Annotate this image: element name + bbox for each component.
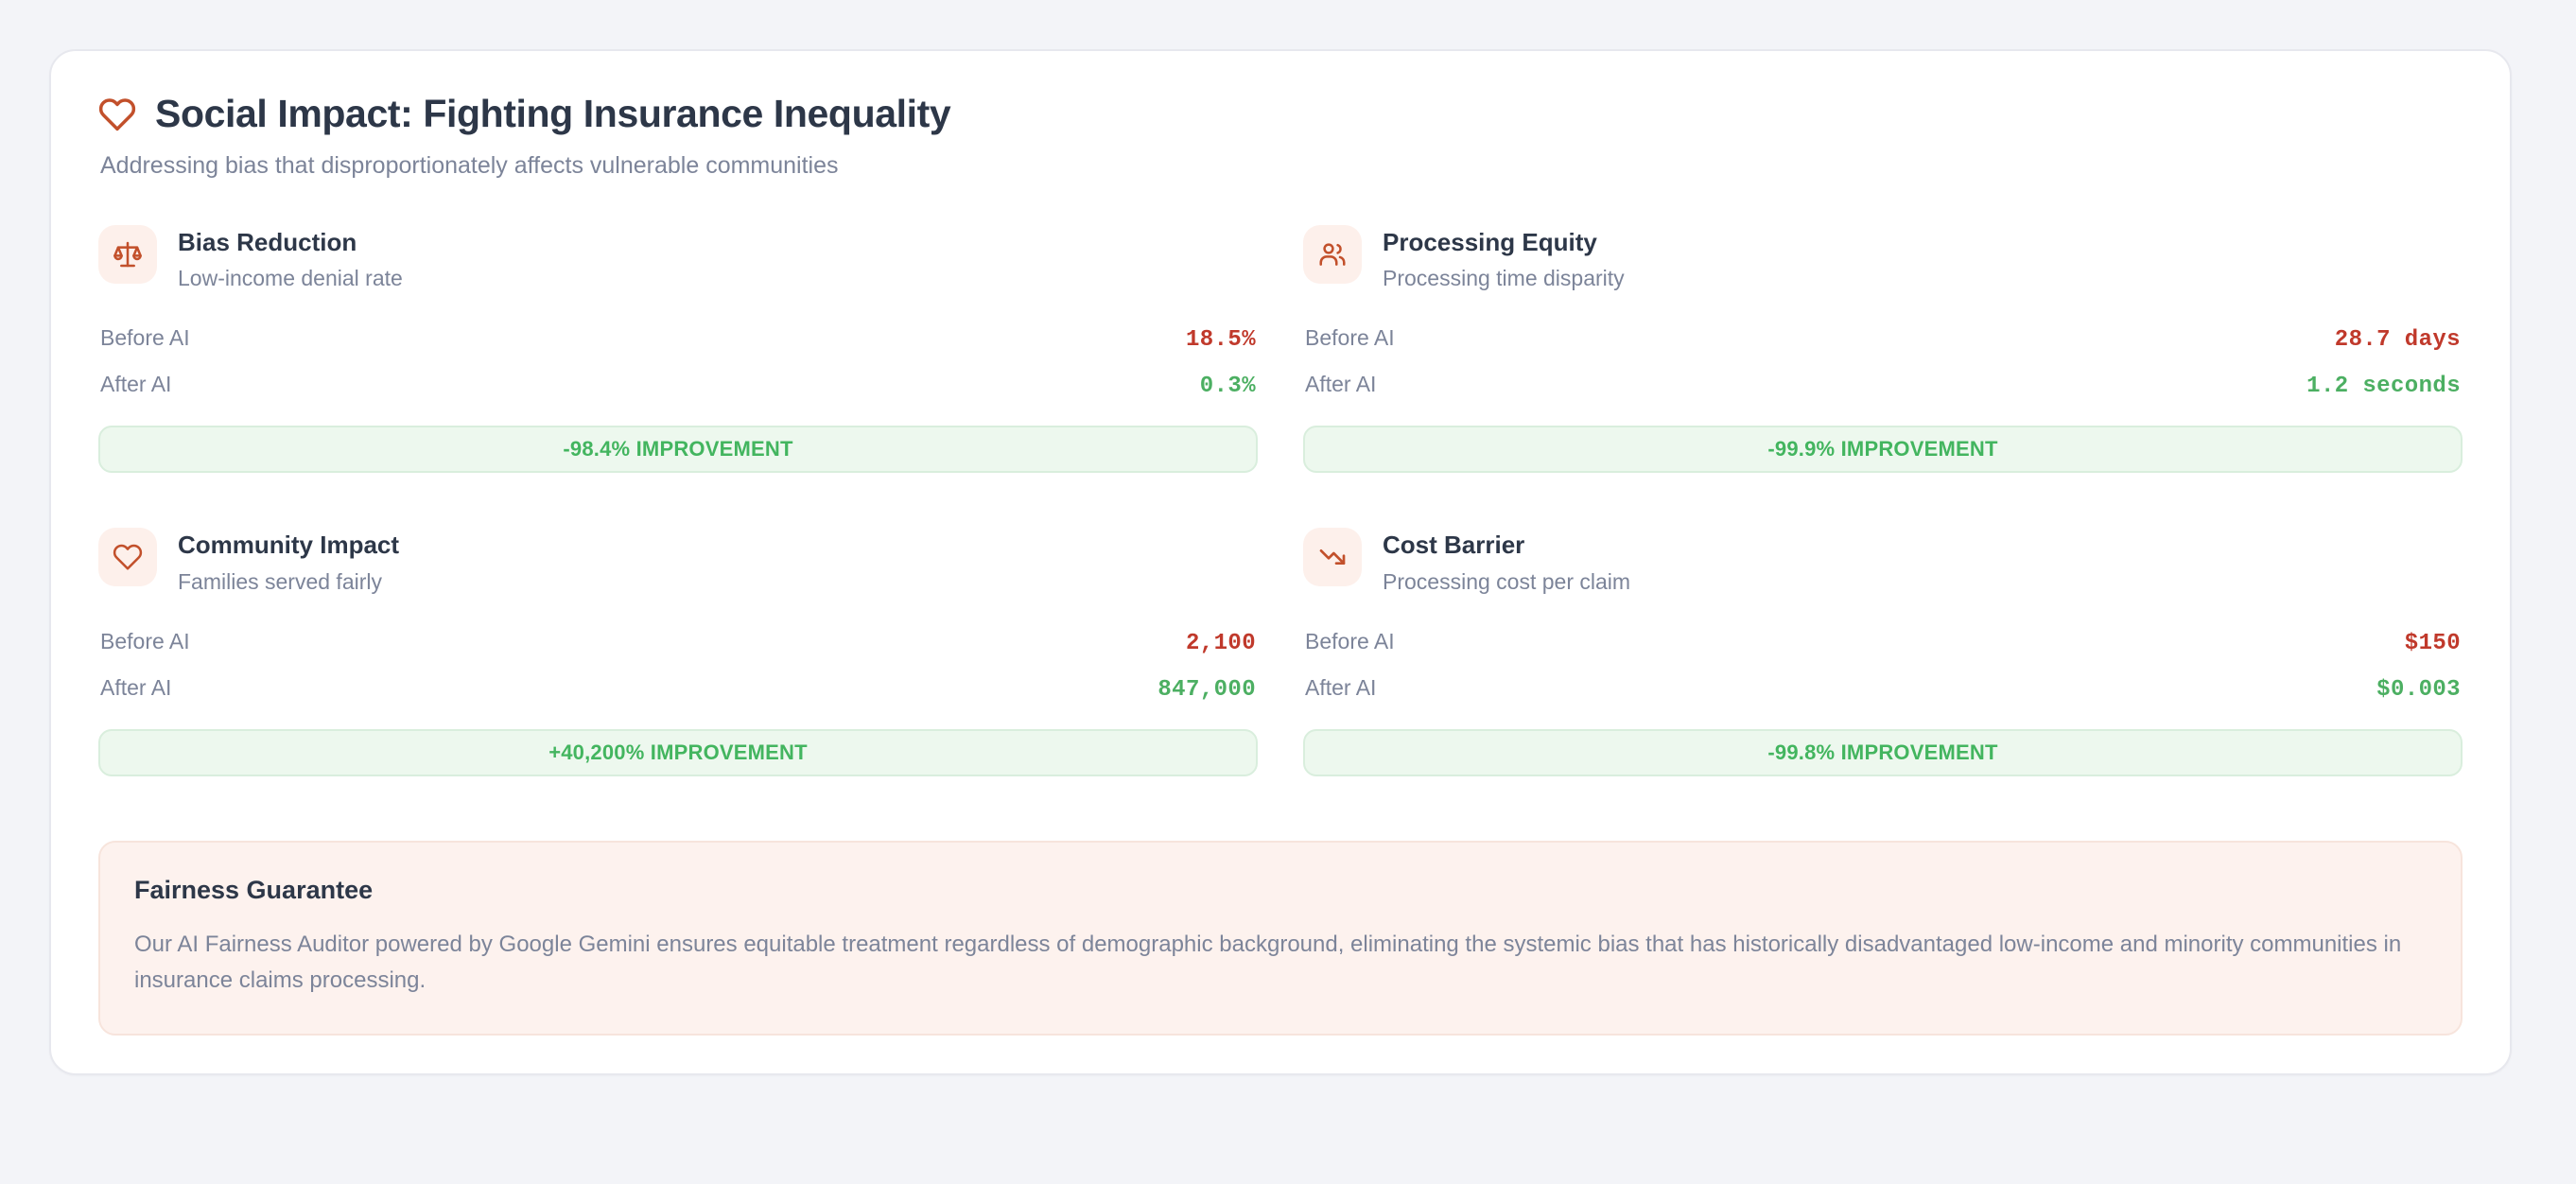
metric-description: Low-income denial rate [178,266,403,292]
metrics-grid: Bias Reduction Low-income denial rate Be… [98,225,2463,785]
after-label: After AI [1305,675,1376,701]
fairness-text: Our AI Fairness Auditor powered by Googl… [134,927,2423,1001]
before-label: Before AI [1305,325,1395,351]
metric-row-before: Before AI 18.5% [98,316,1258,362]
metric-row-before: Before AI 2,100 [98,619,1258,666]
metric-row-after: After AI $0.003 [1303,666,2463,712]
metric-name: Bias Reduction [178,228,403,257]
improvement-badge: -98.4% IMPROVEMENT [98,426,1258,473]
metric-row-before: Before AI $150 [1303,619,2463,666]
metric-rows: Before AI $150 After AI $0.003 [1303,619,2463,712]
heart-icon [98,96,136,133]
metric-rows: Before AI 2,100 After AI 847,000 [98,619,1258,712]
social-impact-panel: Social Impact: Fighting Insurance Inequa… [49,49,2512,1075]
after-label: After AI [1305,372,1376,397]
panel-header: Social Impact: Fighting Insurance Inequa… [98,93,2463,182]
metric-card-community-impact: Community Impact Families served fairly … [98,528,1258,784]
metric-card-bias-reduction: Bias Reduction Low-income denial rate Be… [98,225,1258,481]
metric-name: Community Impact [178,531,399,560]
metric-header: Community Impact Families served fairly [98,528,1258,595]
improvement-badge: +40,200% IMPROVEMENT [98,729,1258,776]
metric-row-after: After AI 1.2 seconds [1303,362,2463,409]
improvement-badge: -99.9% IMPROVEMENT [1303,426,2463,473]
before-value: 18.5% [1186,327,1256,353]
metric-header: Processing Equity Processing time dispar… [1303,225,2463,292]
after-value: 847,000 [1157,677,1256,703]
page-root: Social Impact: Fighting Insurance Inequa… [0,0,2576,1184]
after-value: $0.003 [2376,677,2461,703]
page-subtitle: Addressing bias that disproportionately … [100,150,2463,182]
after-value: 0.3% [1200,374,1256,399]
metric-description: Processing time disparity [1383,266,1625,292]
after-value: 1.2 seconds [2306,374,2461,399]
metric-titles: Community Impact Families served fairly [178,528,399,595]
metric-name: Processing Equity [1383,228,1625,257]
scales-icon [98,225,157,284]
metric-header: Bias Reduction Low-income denial rate [98,225,1258,292]
before-value: 2,100 [1186,631,1256,656]
metric-titles: Cost Barrier Processing cost per claim [1383,528,1630,595]
before-value: 28.7 days [2335,327,2461,353]
metric-row-after: After AI 0.3% [98,362,1258,409]
fairness-guarantee-callout: Fairness Guarantee Our AI Fairness Audit… [98,841,2463,1036]
fairness-title: Fairness Guarantee [134,875,2427,905]
before-label: Before AI [1305,629,1395,654]
metric-header: Cost Barrier Processing cost per claim [1303,528,2463,595]
metric-rows: Before AI 18.5% After AI 0.3% [98,316,1258,409]
metric-titles: Bias Reduction Low-income denial rate [178,225,403,292]
metric-row-after: After AI 847,000 [98,666,1258,712]
heart-icon [98,528,157,586]
users-icon [1303,225,1362,284]
before-label: Before AI [100,629,190,654]
improvement-badge: -99.8% IMPROVEMENT [1303,729,2463,776]
metric-name: Cost Barrier [1383,531,1630,560]
metric-card-cost-barrier: Cost Barrier Processing cost per claim B… [1303,528,2463,784]
before-value: $150 [2405,631,2461,656]
metric-titles: Processing Equity Processing time dispar… [1383,225,1625,292]
metric-description: Processing cost per claim [1383,569,1630,596]
title-row: Social Impact: Fighting Insurance Inequa… [98,93,2463,135]
metric-rows: Before AI 28.7 days After AI 1.2 seconds [1303,316,2463,409]
metric-row-before: Before AI 28.7 days [1303,316,2463,362]
metric-description: Families served fairly [178,569,399,596]
page-title: Social Impact: Fighting Insurance Inequa… [155,93,950,135]
after-label: After AI [100,372,171,397]
after-label: After AI [100,675,171,701]
before-label: Before AI [100,325,190,351]
metric-card-processing-equity: Processing Equity Processing time dispar… [1303,225,2463,481]
trending-down-icon [1303,528,1362,586]
